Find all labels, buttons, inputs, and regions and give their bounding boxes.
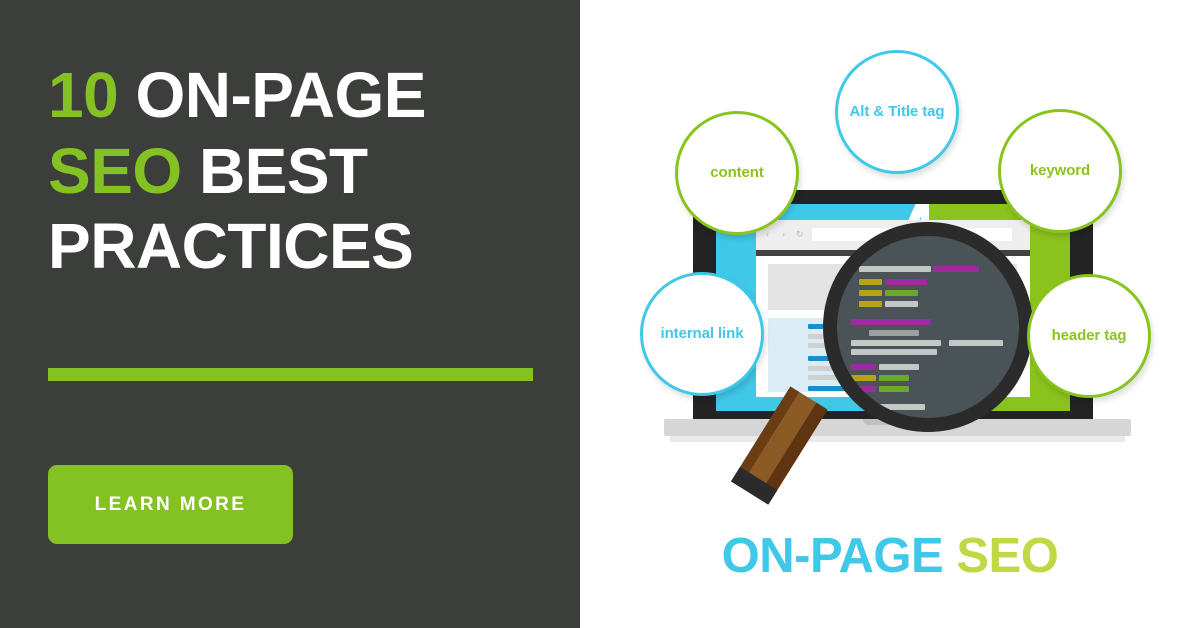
magnifier-lens — [837, 236, 1019, 418]
code-line — [859, 279, 882, 285]
code-line — [949, 340, 1003, 346]
code-line — [851, 364, 876, 370]
code-line — [859, 266, 931, 272]
wordmark-part-on-page: ON-PAGE — [722, 529, 944, 583]
headline-number: 10 — [48, 59, 118, 131]
accent-divider — [48, 368, 533, 381]
bubble-label: Alt & Title tag — [850, 104, 945, 121]
laptop-base-shadow — [670, 436, 1125, 442]
magnifier-handle-tip — [731, 467, 777, 505]
code-line — [885, 279, 927, 285]
seo-banner: 10 ON-PAGE SEO BEST PRACTICES LEARN MORE — [0, 0, 1200, 628]
code-line — [851, 340, 941, 346]
wordmark: ON-PAGE SEO — [580, 528, 1200, 584]
code-line — [933, 266, 979, 272]
code-line — [885, 301, 918, 307]
code-line — [859, 301, 882, 307]
code-line — [851, 319, 931, 325]
magnifier-icon — [823, 222, 1033, 432]
bubble-content[interactable]: content — [675, 111, 799, 235]
code-line — [869, 330, 919, 336]
nav-forward-icon[interactable]: › — [782, 230, 785, 239]
bubble-label: content — [710, 165, 763, 182]
bubble-alt-title-tag[interactable]: Alt & Title tag — [835, 50, 959, 174]
headline-line2: BEST — [199, 135, 368, 207]
nav-reload-icon[interactable]: ↻ — [796, 230, 804, 239]
bubble-label: internal link — [661, 326, 744, 343]
right-panel: ‹ › ↻ — [580, 0, 1200, 628]
nav-back-icon[interactable]: ‹ — [766, 230, 769, 239]
headline-accent-seo: SEO — [48, 135, 182, 207]
bubble-label: keyword — [1030, 163, 1090, 180]
wordmark-part-seo: SEO — [956, 529, 1058, 583]
code-line — [851, 349, 937, 355]
code-line — [851, 386, 876, 392]
headline-line3: PRACTICES — [48, 210, 413, 282]
code-line — [851, 375, 876, 381]
page-title: 10 ON-PAGE SEO BEST PRACTICES — [48, 58, 548, 285]
headline-line1: ON-PAGE — [135, 59, 425, 131]
code-line — [885, 290, 918, 296]
learn-more-button[interactable]: LEARN MORE — [48, 465, 293, 544]
code-line — [859, 290, 882, 296]
code-line — [879, 364, 919, 370]
bubble-keyword[interactable]: keyword — [998, 109, 1122, 233]
bubble-internal-link[interactable]: internal link — [640, 272, 764, 396]
bubble-label: header tag — [1052, 328, 1127, 345]
code-line — [879, 375, 909, 381]
code-line — [879, 386, 909, 392]
bubble-header-tag[interactable]: header tag — [1027, 274, 1151, 398]
left-panel: 10 ON-PAGE SEO BEST PRACTICES LEARN MORE — [0, 0, 580, 628]
code-line — [851, 404, 925, 410]
